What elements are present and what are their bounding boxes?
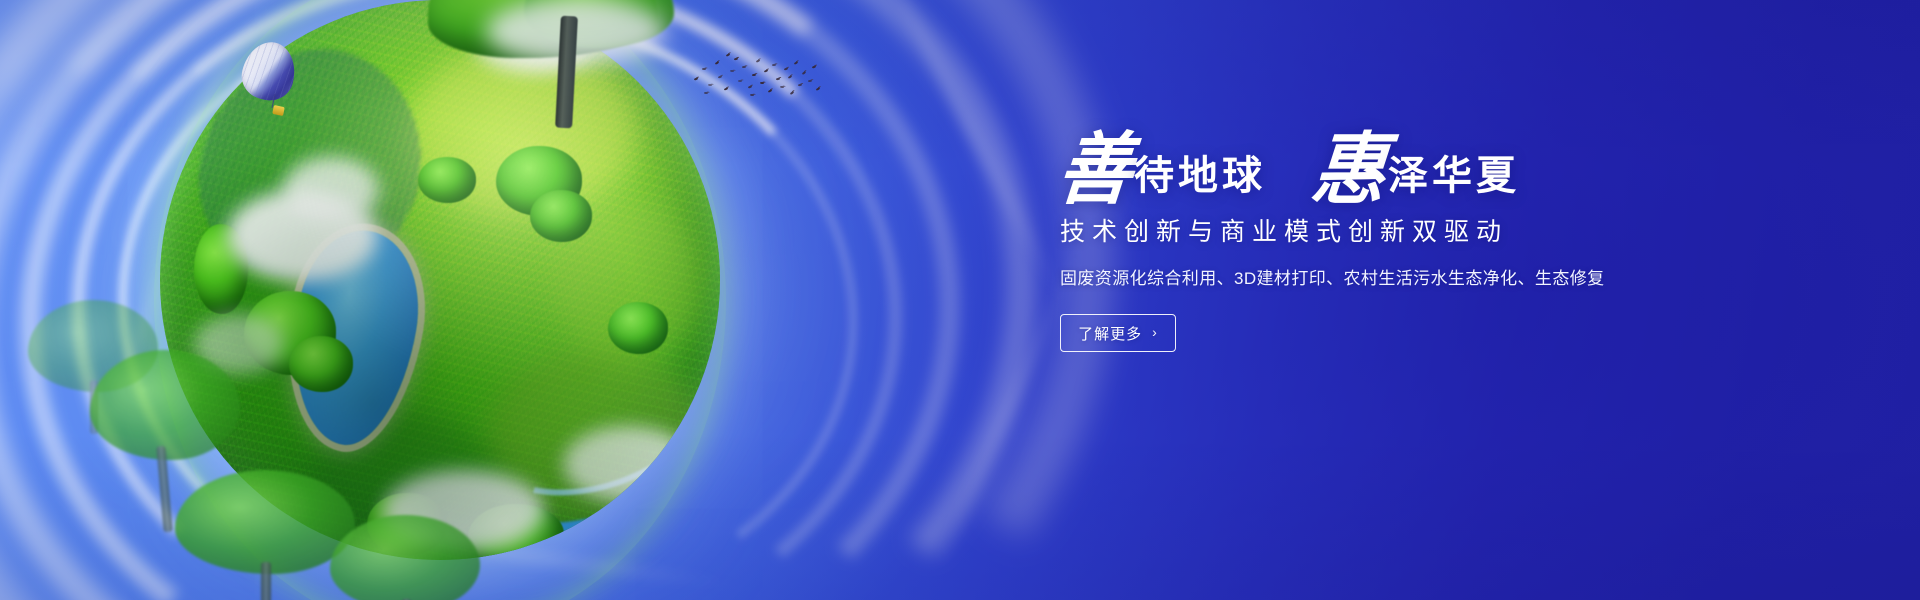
- headline: 善 待地球 惠 泽华夏: [1058, 128, 1678, 202]
- headline-phrase2-rest: 泽华夏: [1388, 156, 1520, 196]
- learn-more-label: 了解更多: [1078, 323, 1142, 344]
- subtitle: 技术创新与商业模式创新双驱动: [1060, 216, 1678, 249]
- hero-banner: 善 待地球 惠 泽华夏 技术创新与商业模式创新双驱动 固废资源化综合利用、3D建…: [0, 0, 1920, 600]
- headline-phrase1-rest: 待地球: [1134, 156, 1266, 196]
- chevron-right-icon: ›: [1152, 325, 1158, 339]
- learn-more-button[interactable]: 了解更多 ›: [1060, 314, 1176, 352]
- headline-phrase2-lead-char: 惠: [1309, 132, 1390, 210]
- hero-copy-block: 善 待地球 惠 泽华夏 技术创新与商业模式创新双驱动 固废资源化综合利用、3D建…: [1058, 128, 1678, 352]
- description: 固废资源化综合利用、3D建材打印、农村生活污水生态净化、生态修复: [1060, 267, 1678, 291]
- headline-phrase1-lead-char: 善: [1055, 132, 1136, 210]
